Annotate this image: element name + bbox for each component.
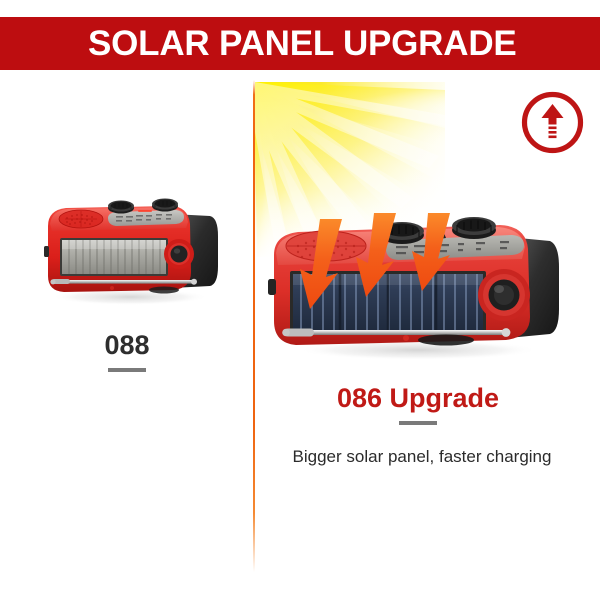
header-banner: SOLAR PANEL UPGRADE (0, 17, 600, 70)
product-image-088 (34, 192, 220, 310)
page-title: SOLAR PANEL UPGRADE (88, 26, 517, 61)
left-product-label: 088 (34, 332, 220, 359)
control-knob (452, 217, 496, 239)
left-product-label-group: 088 (34, 332, 220, 372)
flashlight-lens (164, 239, 194, 269)
product-image-086 (268, 213, 560, 363)
left-label-underline (108, 368, 146, 372)
control-knob (152, 199, 178, 212)
right-product-label: 086 Upgrade (268, 385, 568, 412)
solar-panel-small (60, 238, 168, 276)
control-knob (108, 201, 134, 214)
right-product-label-group: 086 Upgrade (268, 385, 568, 425)
right-label-underline (399, 421, 437, 425)
right-product-subtitle: Bigger solar panel, faster charging (262, 447, 582, 467)
upgrade-badge (521, 91, 584, 154)
flashlight-lens (478, 269, 530, 321)
product-comparison-page: SOLAR PANEL UPGRADE (0, 0, 600, 600)
upward-arrow-icon (521, 91, 584, 154)
